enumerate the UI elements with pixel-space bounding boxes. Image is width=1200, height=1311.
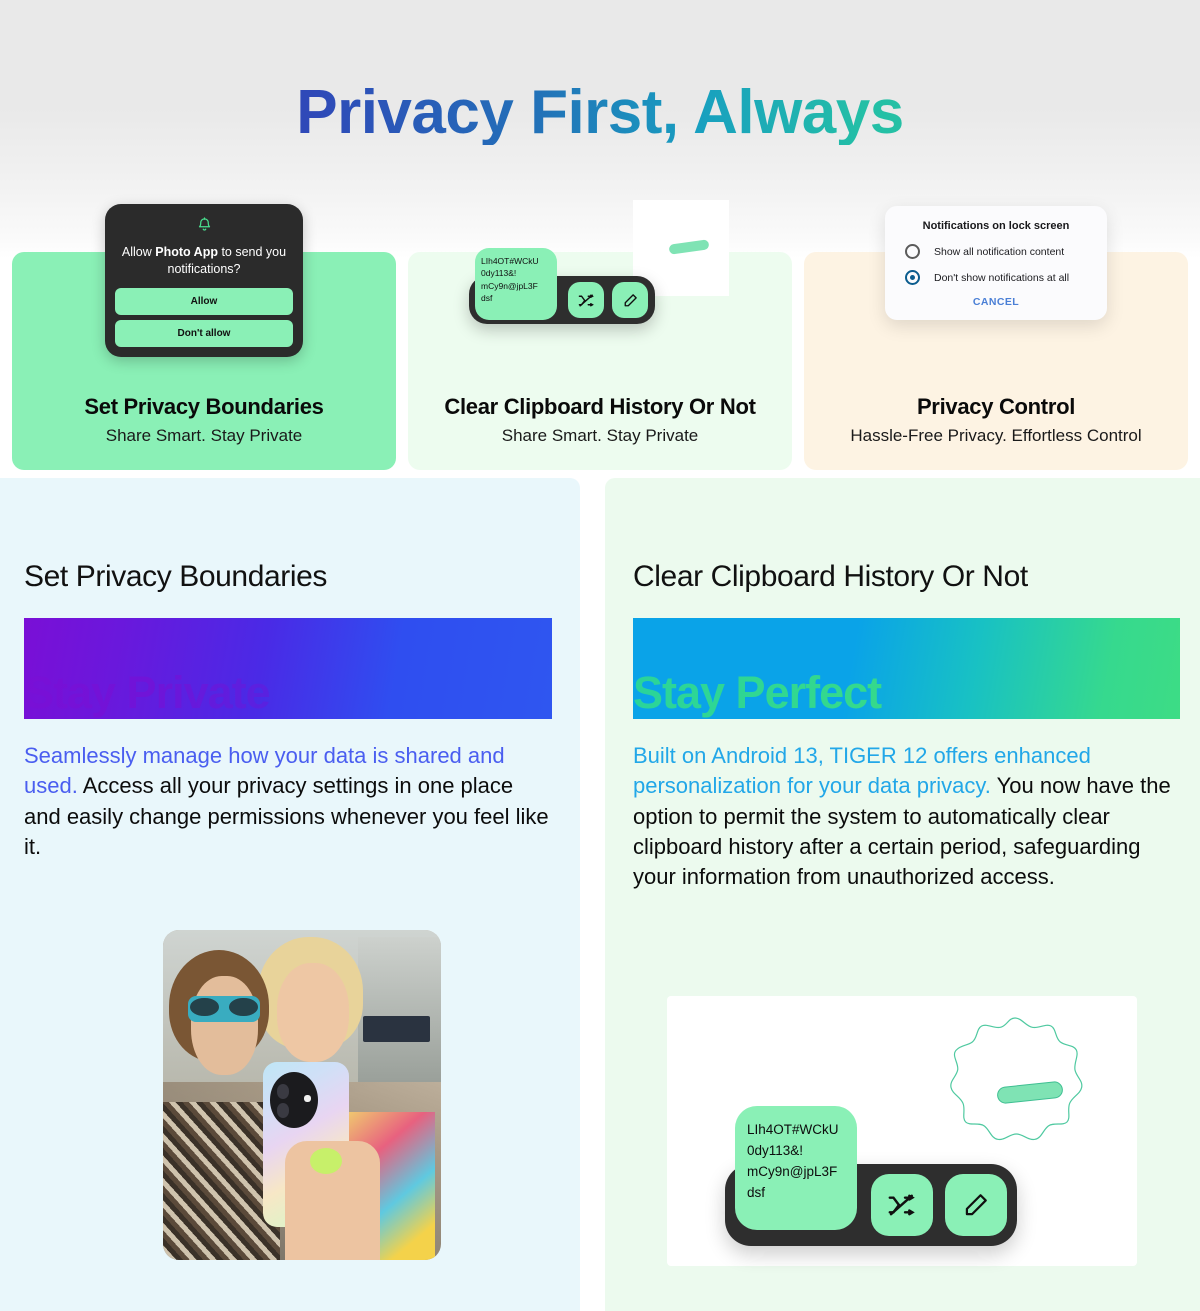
panel-heading: Stay Private. Stay Perfect: [633, 618, 1180, 719]
panel-divider: [580, 478, 605, 1311]
shuffle-off-icon[interactable]: [871, 1174, 933, 1236]
dialog-title: Notifications on lock screen: [899, 220, 1093, 232]
feature-card-set-privacy-boundaries[interactable]: Allow Photo App to send you notification…: [12, 252, 396, 470]
card-title: Privacy Control: [917, 394, 1075, 420]
radio-button-checked[interactable]: [905, 270, 920, 285]
detail-panel-row: Set Privacy Boundaries Share Smart. Stay…: [0, 478, 1200, 1311]
notification-permission-dialog: Allow Photo App to send you notification…: [105, 204, 303, 357]
radio-label: Show all notification content: [934, 246, 1064, 258]
dont-allow-button[interactable]: Don't allow: [115, 320, 293, 347]
selfie-photo: [163, 930, 441, 1260]
panel-body-text: Seamlessly manage how your data is share…: [24, 741, 552, 862]
clipboard-toolbar: LIh4OT#WCkU 0dy113&! mCy9n@jpL3F dsf: [469, 276, 655, 324]
clipboard-toolbar: LIh4OT#WCkU 0dy113&! mCy9n@jpL3F dsf: [725, 1164, 1017, 1246]
card-subtitle: Share Smart. Stay Private: [502, 426, 699, 446]
radio-option-show-all[interactable]: Show all notification content: [899, 244, 1093, 259]
panel-eyebrow: Clear Clipboard History Or Not: [633, 560, 1180, 594]
page-title: Privacy First, Always: [0, 80, 1200, 145]
radio-button-unchecked[interactable]: [905, 244, 920, 259]
privacy-feature-page: Privacy First, Always Allow Photo App to…: [0, 0, 1200, 1311]
pencil-edit-icon[interactable]: [945, 1174, 1007, 1236]
panel-set-privacy-boundaries: Set Privacy Boundaries Share Smart. Stay…: [0, 478, 580, 1311]
card-subtitle: Hassle-Free Privacy. Effortless Control: [850, 426, 1141, 446]
panel-heading-line2: Stay Private: [24, 668, 552, 718]
panel-body-text: Built on Android 13, TIGER 12 offers enh…: [633, 741, 1180, 893]
feature-card-clear-clipboard-history[interactable]: LIh4OT#WCkU 0dy113&! mCy9n@jpL3F dsf: [408, 252, 792, 470]
pencil-edit-icon[interactable]: [612, 282, 648, 318]
radio-label: Don't show notifications at all: [934, 272, 1069, 284]
cancel-button[interactable]: CANCEL: [899, 296, 1093, 308]
panel-heading-line2: Stay Perfect: [633, 668, 1180, 718]
card-title: Set Privacy Boundaries: [84, 394, 323, 420]
panel-eyebrow: Set Privacy Boundaries: [24, 560, 552, 594]
panel-heading: Share Smart. Stay Private: [24, 618, 552, 719]
lock-screen-notification-dialog: Notifications on lock screen Show all no…: [885, 206, 1107, 320]
panel-body-rest: Access all your privacy settings in one …: [24, 773, 549, 859]
shuffle-off-icon[interactable]: [568, 282, 604, 318]
scalloped-blob-shape: [935, 1014, 1095, 1174]
clipboard-illustration: LIh4OT#WCkU 0dy113&! mCy9n@jpL3F dsf: [465, 200, 735, 360]
bell-icon: [115, 216, 293, 238]
feature-card-row: Allow Photo App to send you notification…: [0, 252, 1200, 470]
panel-clear-clipboard-history: Clear Clipboard History Or Not Stay Priv…: [605, 478, 1200, 1311]
panel-heading-line1: Stay Private.: [633, 617, 890, 668]
notification-dialog-message: Allow Photo App to send you notification…: [115, 244, 293, 278]
feature-card-privacy-control[interactable]: Notifications on lock screen Show all no…: [804, 252, 1188, 470]
clipboard-text[interactable]: LIh4OT#WCkU 0dy113&! mCy9n@jpL3F dsf: [475, 248, 557, 320]
clipboard-text[interactable]: LIh4OT#WCkU 0dy113&! mCy9n@jpL3F dsf: [735, 1106, 857, 1230]
radio-option-dont-show[interactable]: Don't show notifications at all: [899, 270, 1093, 285]
allow-button[interactable]: Allow: [115, 288, 293, 315]
card-subtitle: Share Smart. Stay Private: [106, 426, 303, 446]
card-title: Clear Clipboard History Or Not: [444, 394, 755, 420]
clipboard-illustration-large: LIh4OT#WCkU 0dy113&! mCy9n@jpL3F dsf: [667, 996, 1137, 1266]
panel-heading-line1: Share Smart.: [24, 617, 290, 668]
